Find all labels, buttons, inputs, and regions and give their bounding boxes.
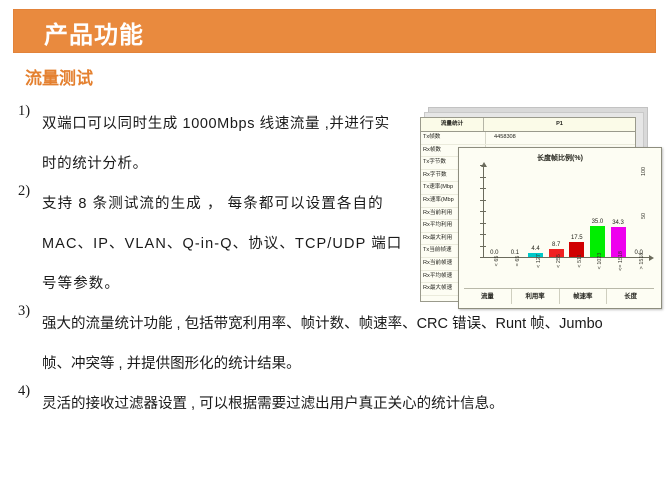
feature-number: 3) <box>18 304 40 319</box>
feature-item: 3)强大的流量统计功能 , 包括带宽利用率、帧计数、帧速率、CRC 错误、Run… <box>18 304 652 384</box>
stats-header-port: P1 <box>484 118 635 131</box>
feature-line: 帧、冲突等 , 并提供图形化的统计结果。 <box>42 344 652 384</box>
chart-bar-cell: 0.0 <box>628 166 649 257</box>
x-axis-label-cell: < 255 <box>546 260 567 290</box>
chart-tab-1[interactable]: 利用率 <box>512 289 560 304</box>
chart-bar-value: 17.5 <box>571 235 583 241</box>
x-axis-arrow-icon <box>649 255 654 261</box>
x-axis <box>483 257 649 258</box>
chart-tab-2[interactable]: 帧速率 <box>560 289 608 304</box>
chart-title: 长度帧比例(%) <box>459 153 661 163</box>
x-axis-label-cell: < 65 <box>484 260 505 290</box>
table-row[interactable]: Tx帧数4458308 <box>421 132 635 145</box>
x-axis-label: < 511 <box>577 254 583 267</box>
y-axis-tick <box>480 257 486 258</box>
chart-bar-cell: 4.4 <box>525 166 546 257</box>
x-axis-label-cell: <= 1518 <box>608 260 629 290</box>
chart-bars: 0.00.14.48.717.535.034.30.0 <box>484 166 649 257</box>
stats-table-header: 流量统计 P1 <box>421 118 635 132</box>
chart-bar-cell: 8.7 <box>546 166 567 257</box>
x-axis-labels: < 65= 65< 127< 255< 511< 1023<= 1518> 15… <box>484 260 649 290</box>
x-axis-label-cell: < 127 <box>525 260 546 290</box>
x-axis-label: < 127 <box>536 254 542 268</box>
chart-tab-0[interactable]: 流量 <box>464 289 512 304</box>
feature-item: 4)灵活的接收过滤器设置 , 可以根据需要过滤出用户真正关心的统计信息。 <box>18 384 652 424</box>
chart-bar-cell: 35.0 <box>587 166 608 257</box>
x-axis-label: < 65 <box>494 256 500 267</box>
feature-line: 灵活的接收过滤器设置 , 可以根据需要过滤出用户真正关心的统计信息。 <box>42 384 652 424</box>
page-title: 产品功能 <box>44 24 144 48</box>
stats-row-value: 4458308 <box>486 132 635 144</box>
feature-line: 强大的流量统计功能 , 包括带宽利用率、帧计数、帧速率、CRC 错误、Runt … <box>42 304 652 344</box>
x-axis-label-cell: < 511 <box>567 260 588 290</box>
header-band: 产品功能 <box>13 9 656 53</box>
x-axis-label: <= 1518 <box>618 251 624 271</box>
feature-number: 2) <box>18 184 40 199</box>
x-axis-label: < 1023 <box>597 253 603 270</box>
chart-bar-value: 4.4 <box>531 246 539 252</box>
chart-bar-cell: 0.0 <box>484 166 505 257</box>
screenshot-stack: 流量统计 P1 Tx帧数4458308Rx帧数4458304Tx字节数Rx字节数… <box>420 107 666 307</box>
chart-bar-cell: 17.5 <box>567 166 588 257</box>
chart-bar-cell: 0.1 <box>505 166 526 257</box>
chart-bar-cell: 34.3 <box>608 166 629 257</box>
x-axis-label: < 255 <box>556 254 562 268</box>
x-axis-label-cell: = 65 <box>505 260 526 290</box>
x-axis-label-cell: < 1023 <box>587 260 608 290</box>
feature-number: 1) <box>18 104 40 119</box>
length-chart-window: 长度帧比例(%) 50100 0.00.14.48.717.535.034.30… <box>458 147 662 309</box>
chart-bar-value: 8.7 <box>552 242 560 248</box>
chart-plot-area: 50100 0.00.14.48.717.535.034.30.0 <box>483 166 649 258</box>
x-axis-label: > 1518 <box>639 253 645 270</box>
x-axis-label-cell: > 1518 <box>628 260 649 290</box>
chart-tab-bar: 流量利用率帧速率长度 <box>464 288 654 304</box>
chart-bar-value: 35.0 <box>592 219 604 225</box>
x-axis-label: = 65 <box>515 256 521 267</box>
chart-bar-value: 34.3 <box>612 220 624 226</box>
chart-tab-3[interactable]: 长度 <box>607 289 654 304</box>
stats-header-metric: 流量统计 <box>421 118 484 131</box>
section-subtitle: 流量测试 <box>25 64 93 89</box>
feature-number: 4) <box>18 384 40 399</box>
slide-page: 产品功能 流量测试 1)双端口可以同时生成 1000Mbps 线速流量 ,并进行… <box>0 0 669 478</box>
stats-row-label: Tx帧数 <box>421 132 486 144</box>
